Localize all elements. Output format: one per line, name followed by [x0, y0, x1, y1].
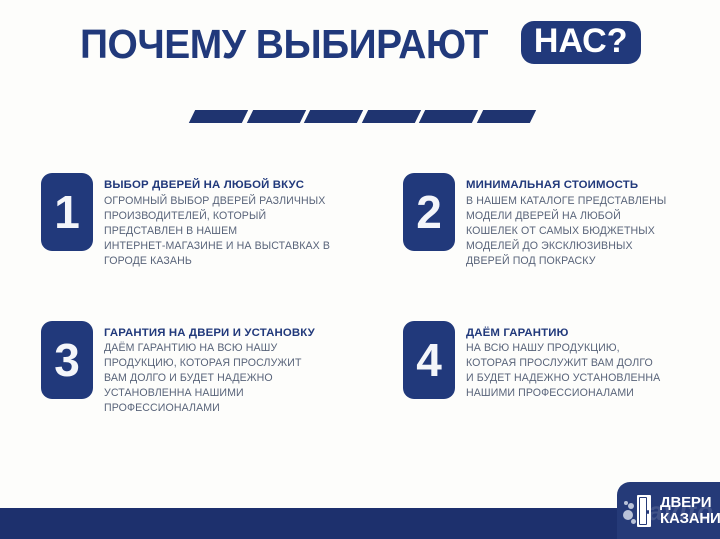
dots-decoration	[623, 499, 636, 525]
benefit-number-badge: 4	[403, 321, 455, 399]
benefit-body-line: ПРЕДСТАВЛЕН В НАШЕМ	[104, 224, 330, 239]
benefit-body-line: ПРОДУКЦИЮ, КОТОРАЯ ПРОСЛУЖИТ	[104, 356, 315, 371]
door-icon	[623, 494, 656, 528]
benefit-text-block: МИНИМАЛЬНАЯ СТОИМОСТЬ В НАШЕМ КАТАЛОГЕ П…	[466, 173, 666, 269]
benefit-body-line: КОТОРАЯ ПРОСЛУЖИТ ВАМ ДОЛГО	[466, 356, 660, 371]
divider-dash	[189, 110, 248, 123]
benefit-body-line: ДВЕРЕЙ ПОД ПОКРАСКУ	[466, 254, 666, 269]
benefit-text-block: ДАЁМ ГАРАНТИЮ НА ВСЮ НАШУ ПРОДУКЦИЮ, КОТ…	[466, 321, 660, 402]
dashed-divider	[192, 110, 532, 124]
divider-dash	[246, 110, 305, 123]
divider-dash	[476, 110, 535, 123]
benefit-body-line: ОГРОМНЫЙ ВЫБОР ДВЕРЕЙ РАЗЛИЧНЫХ	[104, 194, 330, 209]
benefit-title: ДАЁМ ГАРАНТИЮ	[466, 326, 660, 341]
title-badge: НАС?	[521, 21, 641, 64]
promo-poster: ПОЧЕМУ ВЫБИРАЮТ НАС? 1 ВЫБОР ДВЕРЕЙ НА Л…	[0, 0, 720, 539]
benefit-title: ГАРАНТИЯ НА ДВЕРИ И УСТАНОВКУ	[104, 326, 315, 341]
brand-logo: ДВЕРИ КАЗАНИ avito	[617, 482, 720, 539]
benefits-row: 1 ВЫБОР ДВЕРЕЙ НА ЛЮБОЙ ВКУС ОГРОМНЫЙ ВЫ…	[41, 173, 687, 269]
benefit-body-line: КОШЕЛЕК ОТ САМЫХ БЮДЖЕТНЫХ	[466, 224, 666, 239]
benefits-grid: 1 ВЫБОР ДВЕРЕЙ НА ЛЮБОЙ ВКУС ОГРОМНЫЙ ВЫ…	[41, 173, 687, 417]
benefit-body-line: УСТАНОВЛЕННА НАШИМИ	[104, 386, 315, 401]
benefit-body: В НАШЕМ КАТАЛОГЕ ПРЕДСТАВЛЕНЫ МОДЕЛИ ДВЕ…	[466, 194, 666, 269]
divider-dash	[361, 110, 420, 123]
benefit-item-3: 3 ГАРАНТИЯ НА ДВЕРИ И УСТАНОВКУ ДАЁМ ГАР…	[41, 321, 403, 417]
benefit-body-line: ПРОИЗВОДИТЕЛЕЙ, КОТОРЫЙ	[104, 209, 330, 224]
benefit-body-line: ДАЁМ ГАРАНТИЮ НА ВСЮ НАШУ	[104, 341, 315, 356]
benefit-text-block: ВЫБОР ДВЕРЕЙ НА ЛЮБОЙ ВКУС ОГРОМНЫЙ ВЫБО…	[104, 173, 330, 269]
benefit-body-line: ГОРОДЕ КАЗАНЬ	[104, 254, 330, 269]
benefit-body: НА ВСЮ НАШУ ПРОДУКЦИЮ, КОТОРАЯ ПРОСЛУЖИТ…	[466, 341, 660, 401]
door-glyph	[637, 495, 651, 527]
benefit-number-badge: 3	[41, 321, 93, 399]
benefit-body-line: ИНТЕРНЕТ-МАГАЗИНЕ И НА ВЫСТАВКАХ В	[104, 239, 330, 254]
page-title: ПОЧЕМУ ВЫБИРАЮТ	[80, 24, 488, 65]
benefits-row: 3 ГАРАНТИЯ НА ДВЕРИ И УСТАНОВКУ ДАЁМ ГАР…	[41, 321, 687, 417]
benefit-body-line: МОДЕЛИ ДВЕРЕЙ НА ЛЮБОЙ	[466, 209, 666, 224]
benefit-body: ДАЁМ ГАРАНТИЮ НА ВСЮ НАШУ ПРОДУКЦИЮ, КОТ…	[104, 341, 315, 416]
benefit-body-line: И БУДЕТ НАДЕЖНО УСТАНОВЛЕННА	[466, 371, 660, 386]
benefit-body-line: НАШИМИ ПРОФЕССИОНАЛАМИ	[466, 386, 660, 401]
logo-wordmark: ДВЕРИ КАЗАНИ	[660, 495, 720, 526]
benefit-item-1: 1 ВЫБОР ДВЕРЕЙ НА ЛЮБОЙ ВКУС ОГРОМНЫЙ ВЫ…	[41, 173, 403, 269]
poster-header: ПОЧЕМУ ВЫБИРАЮТ НАС?	[0, 14, 720, 74]
benefit-body-line: НА ВСЮ НАШУ ПРОДУКЦИЮ,	[466, 341, 660, 356]
benefit-item-2: 2 МИНИМАЛЬНАЯ СТОИМОСТЬ В НАШЕМ КАТАЛОГЕ…	[403, 173, 687, 269]
benefit-body-line: ПРОФЕССИОНАЛАМИ	[104, 401, 315, 416]
logo-line-2: КАЗАНИ	[660, 511, 720, 527]
divider-dash	[304, 110, 363, 123]
divider-dash	[419, 110, 478, 123]
benefit-body-line: В НАШЕМ КАТАЛОГЕ ПРЕДСТАВЛЕНЫ	[466, 194, 666, 209]
benefit-body-line: МОДЕЛЕЙ ДО ЭКСКЛЮЗИВНЫХ	[466, 239, 666, 254]
benefit-title: ВЫБОР ДВЕРЕЙ НА ЛЮБОЙ ВКУС	[104, 178, 330, 193]
benefit-number-badge: 1	[41, 173, 93, 251]
benefit-title: МИНИМАЛЬНАЯ СТОИМОСТЬ	[466, 178, 666, 193]
footer-bar	[0, 508, 720, 539]
benefit-text-block: ГАРАНТИЯ НА ДВЕРИ И УСТАНОВКУ ДАЁМ ГАРАН…	[104, 321, 315, 417]
benefit-body-line: ВАМ ДОЛГО И БУДЕТ НАДЕЖНО	[104, 371, 315, 386]
benefit-body: ОГРОМНЫЙ ВЫБОР ДВЕРЕЙ РАЗЛИЧНЫХ ПРОИЗВОД…	[104, 194, 330, 269]
benefit-number-badge: 2	[403, 173, 455, 251]
benefit-item-4: 4 ДАЁМ ГАРАНТИЮ НА ВСЮ НАШУ ПРОДУКЦИЮ, К…	[403, 321, 687, 417]
logo-line-1: ДВЕРИ	[660, 495, 720, 511]
